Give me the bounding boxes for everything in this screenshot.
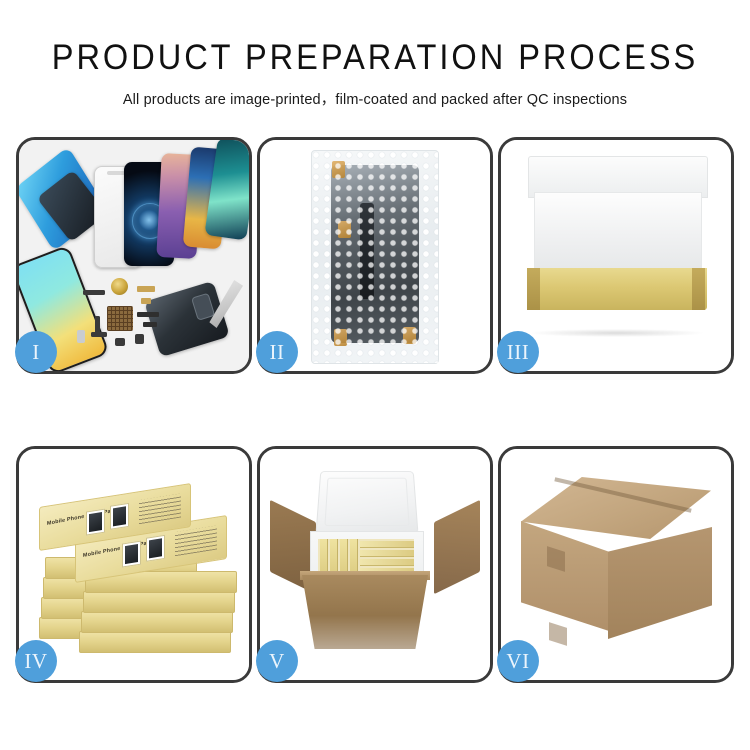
tape-tab-icon	[338, 221, 351, 238]
process-step-panel-2: II	[257, 137, 493, 374]
process-step-panel-1: I	[16, 137, 252, 374]
stacked-box	[83, 591, 235, 613]
step-1-image	[19, 140, 249, 371]
tape-tab-icon	[334, 329, 347, 346]
connector-mesh-icon	[107, 306, 133, 331]
flex-cable-icon	[137, 312, 159, 317]
page-title: PRODUCT PREPARATION PROCESS	[26, 40, 724, 77]
step-5-image	[260, 449, 490, 680]
kraft-box-front-icon	[527, 268, 707, 310]
step-2-image	[260, 140, 490, 371]
retail-box-stack-icon: Mobile Phone Spare Parts Mobile Phone Sp…	[33, 471, 239, 661]
carton-body-icon	[302, 575, 428, 649]
chip-part-icon	[77, 330, 85, 343]
bubble-wrap-bag-icon	[311, 150, 439, 364]
process-steps-grid: I II	[16, 137, 734, 683]
process-step-panel-6: VI	[498, 446, 734, 683]
step-3-image	[501, 140, 731, 371]
flex-cable-icon	[143, 322, 157, 327]
box-label-text: Mobile Phone Spare Parts	[47, 507, 118, 527]
carton-flap-right-icon	[434, 500, 480, 594]
box-shadow	[531, 329, 703, 337]
step-badge-4: IV	[15, 640, 57, 682]
page-subtitle: All products are image-printed，film-coat…	[0, 88, 750, 109]
kraft-box-left-end-icon	[527, 268, 540, 310]
step-badge-1: I	[15, 331, 57, 373]
process-step-panel-4: Mobile Phone Spare Parts Mobile Phone Sp…	[16, 446, 252, 683]
stacked-box	[79, 631, 231, 653]
step-6-image	[501, 449, 731, 680]
phone-screens-fan-illustration	[19, 140, 249, 371]
step-badge-5: V	[256, 640, 298, 682]
carton-right-face-icon	[608, 527, 712, 639]
tape-tab-icon	[403, 327, 416, 344]
tape-tab-icon	[332, 161, 345, 178]
process-step-panel-5: V	[257, 446, 493, 683]
flex-cable-icon	[137, 286, 155, 292]
chip-part-icon	[91, 332, 107, 337]
page-header: PRODUCT PREPARATION PROCESS All products…	[0, 0, 750, 109]
product-preparation-process-page: PRODUCT PREPARATION PROCESS All products…	[0, 0, 750, 750]
step-badge-2: II	[256, 331, 298, 373]
screen-flex-cable-icon	[360, 203, 374, 299]
carton-left-face-icon	[521, 521, 609, 631]
chip-part-icon	[83, 290, 105, 295]
wrapped-screen-icon	[331, 165, 419, 343]
flex-cable-icon	[141, 298, 151, 304]
process-step-panel-3: III	[498, 137, 734, 374]
carton-tab-icon	[549, 622, 567, 646]
step-badge-6: VI	[497, 640, 539, 682]
foam-lid-icon	[315, 471, 418, 534]
foam-sheet-icon	[534, 192, 702, 272]
stacked-box	[81, 611, 233, 633]
step-4-image: Mobile Phone Spare Parts Mobile Phone Sp…	[19, 449, 249, 680]
copper-coil-icon	[111, 278, 128, 295]
kraft-box-right-end-icon	[692, 268, 705, 310]
chip-part-icon	[115, 338, 125, 346]
step-badge-3: III	[497, 331, 539, 373]
chip-part-icon	[135, 334, 144, 344]
